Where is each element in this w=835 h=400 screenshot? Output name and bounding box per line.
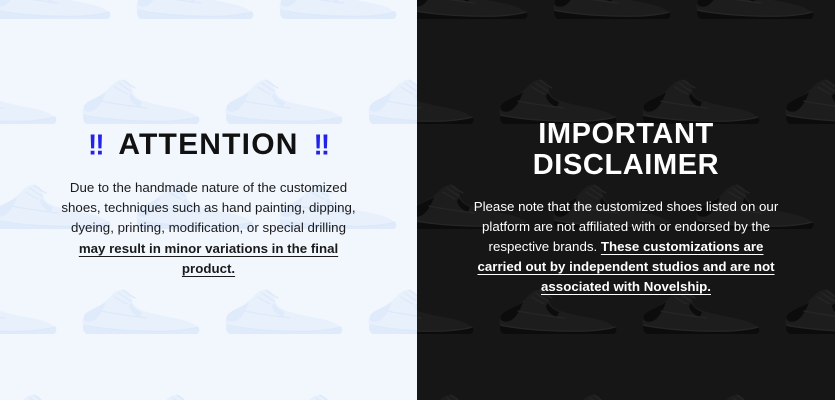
sneaker-icon [268,386,411,400]
disclaimer-content: IMPORTANT DISCLAIMER Please note that th… [417,0,835,298]
attention-content: ‼ ATTENTION ‼ Due to the handmade nature… [0,0,417,279]
sneaker-icon [0,281,71,343]
double-exclamation-right-icon: ‼ [314,131,329,159]
sneaker-icon [71,281,214,343]
sneaker-icon [125,386,268,400]
attention-body: Due to the handmade nature of the custom… [58,178,359,279]
sneaker-icon [214,281,357,343]
attention-heading: ‼ ATTENTION ‼ [58,130,359,160]
disclaimer-heading-line-1: IMPORTANT [469,119,783,150]
disclaimer-heading: IMPORTANT DISCLAIMER [469,119,783,182]
sneaker-pattern-row [0,386,417,400]
sneaker-icon [357,281,417,343]
sneaker-pattern-row [0,281,417,343]
disclaimer-banner: ‼ ATTENTION ‼ Due to the handmade nature… [0,0,835,400]
attention-heading-text: ATTENTION [118,130,298,160]
attention-panel: ‼ ATTENTION ‼ Due to the handmade nature… [0,0,417,400]
sneaker-icon [0,386,125,400]
sneaker-pattern-row [417,386,835,400]
sneaker-icon [828,386,835,400]
disclaimer-body: Please note that the customized shoes li… [469,197,783,298]
sneaker-icon [685,386,828,400]
attention-body-emphasis: may result in minor variations in the fi… [79,241,338,276]
sneaker-icon [417,386,542,400]
sneaker-icon [542,386,685,400]
attention-body-plain: Due to the handmade nature of the custom… [61,180,355,235]
disclaimer-panel: IMPORTANT DISCLAIMER Please note that th… [417,0,835,400]
double-exclamation-left-icon: ‼ [88,131,103,159]
disclaimer-heading-line-2: DISCLAIMER [469,150,783,181]
